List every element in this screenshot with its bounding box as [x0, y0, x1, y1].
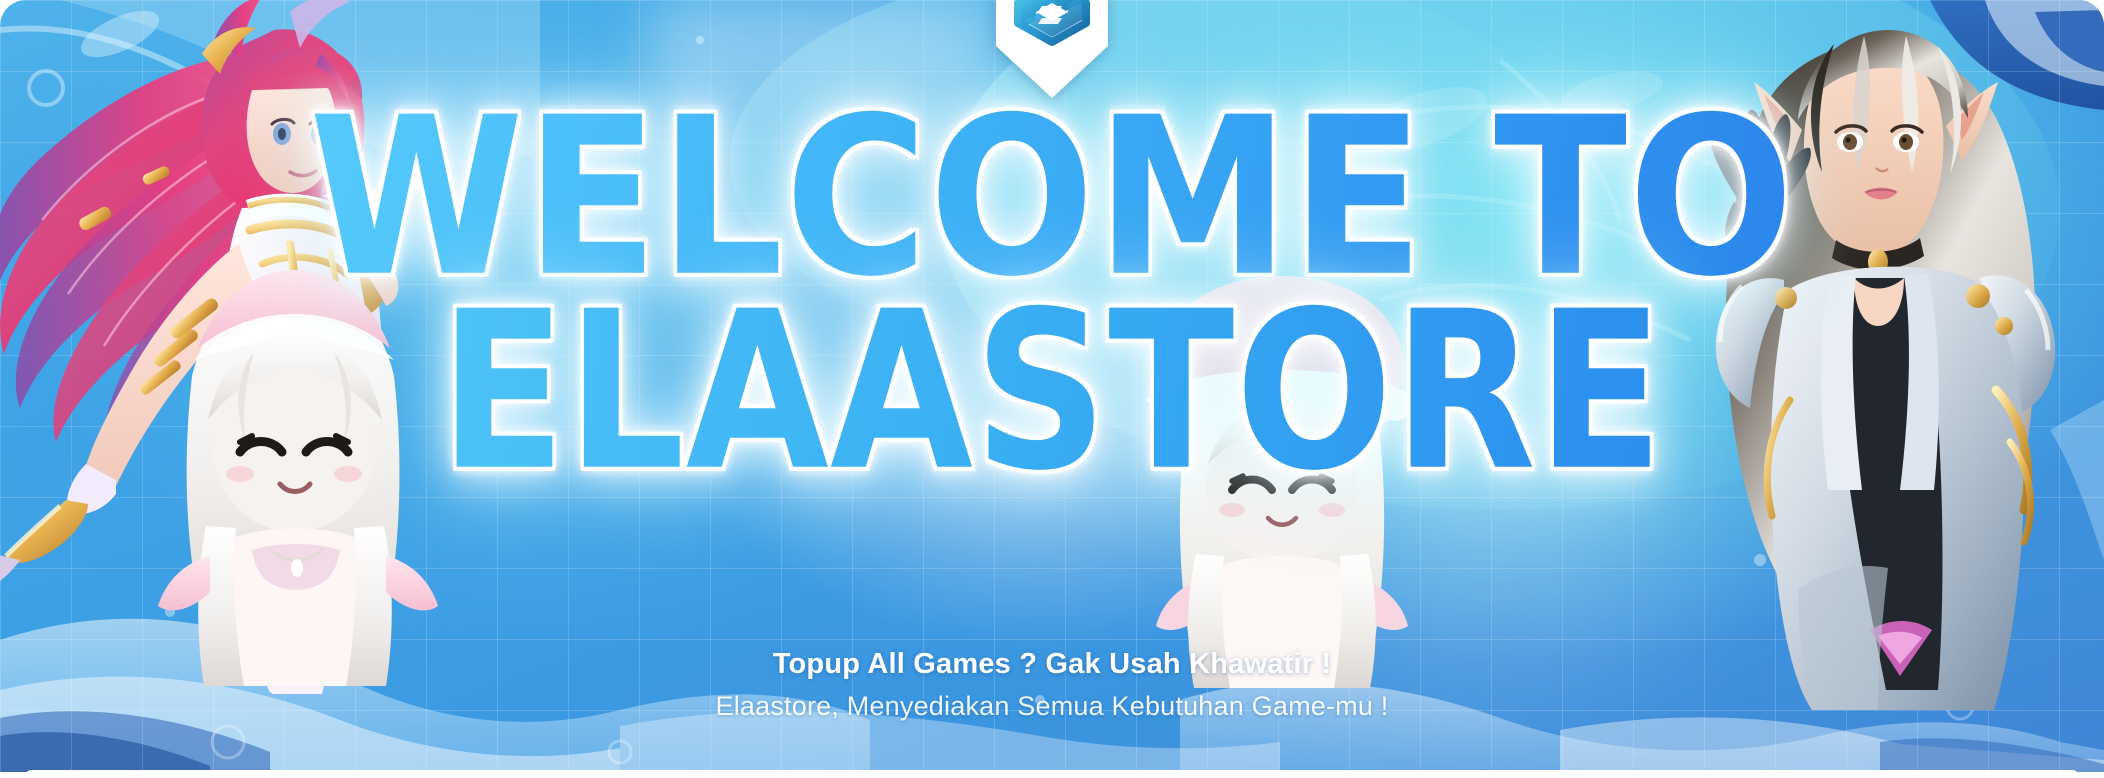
elaastore-logo-badge[interactable] [996, 0, 1108, 104]
tagline-main: Topup All Games ? Gak Usah Khawatir ! [0, 648, 2104, 681]
headline-line-1: WELCOME TO [0, 96, 2104, 299]
light-sheen [652, 0, 989, 463]
hero-banner[interactable]: WELCOME TO ELAASTORE Topup All Games ? G… [0, 0, 2104, 772]
headline-line-2: ELAASTORE [0, 290, 2104, 493]
tagline-sub: Elaastore, Menyediakan Semua Kebutuhan G… [0, 691, 2104, 722]
hero-headline: WELCOME TO ELAASTORE [0, 96, 2104, 446]
background-water-artwork [0, 0, 2104, 772]
hero-taglines: Topup All Games ? Gak Usah Khawatir ! El… [0, 648, 2104, 722]
background-grid-overlay [0, 0, 2104, 772]
page-content-section [24, 770, 2080, 778]
light-sheen-secondary [1178, 232, 1809, 772]
right-chibi-character [1132, 268, 1432, 688]
right-character-artwork [1638, 0, 2104, 710]
left-chibi-character [148, 256, 448, 686]
page-root: WELCOME TO ELAASTORE Topup All Games ? G… [0, 0, 2104, 778]
left-character-artwork [0, 0, 460, 694]
